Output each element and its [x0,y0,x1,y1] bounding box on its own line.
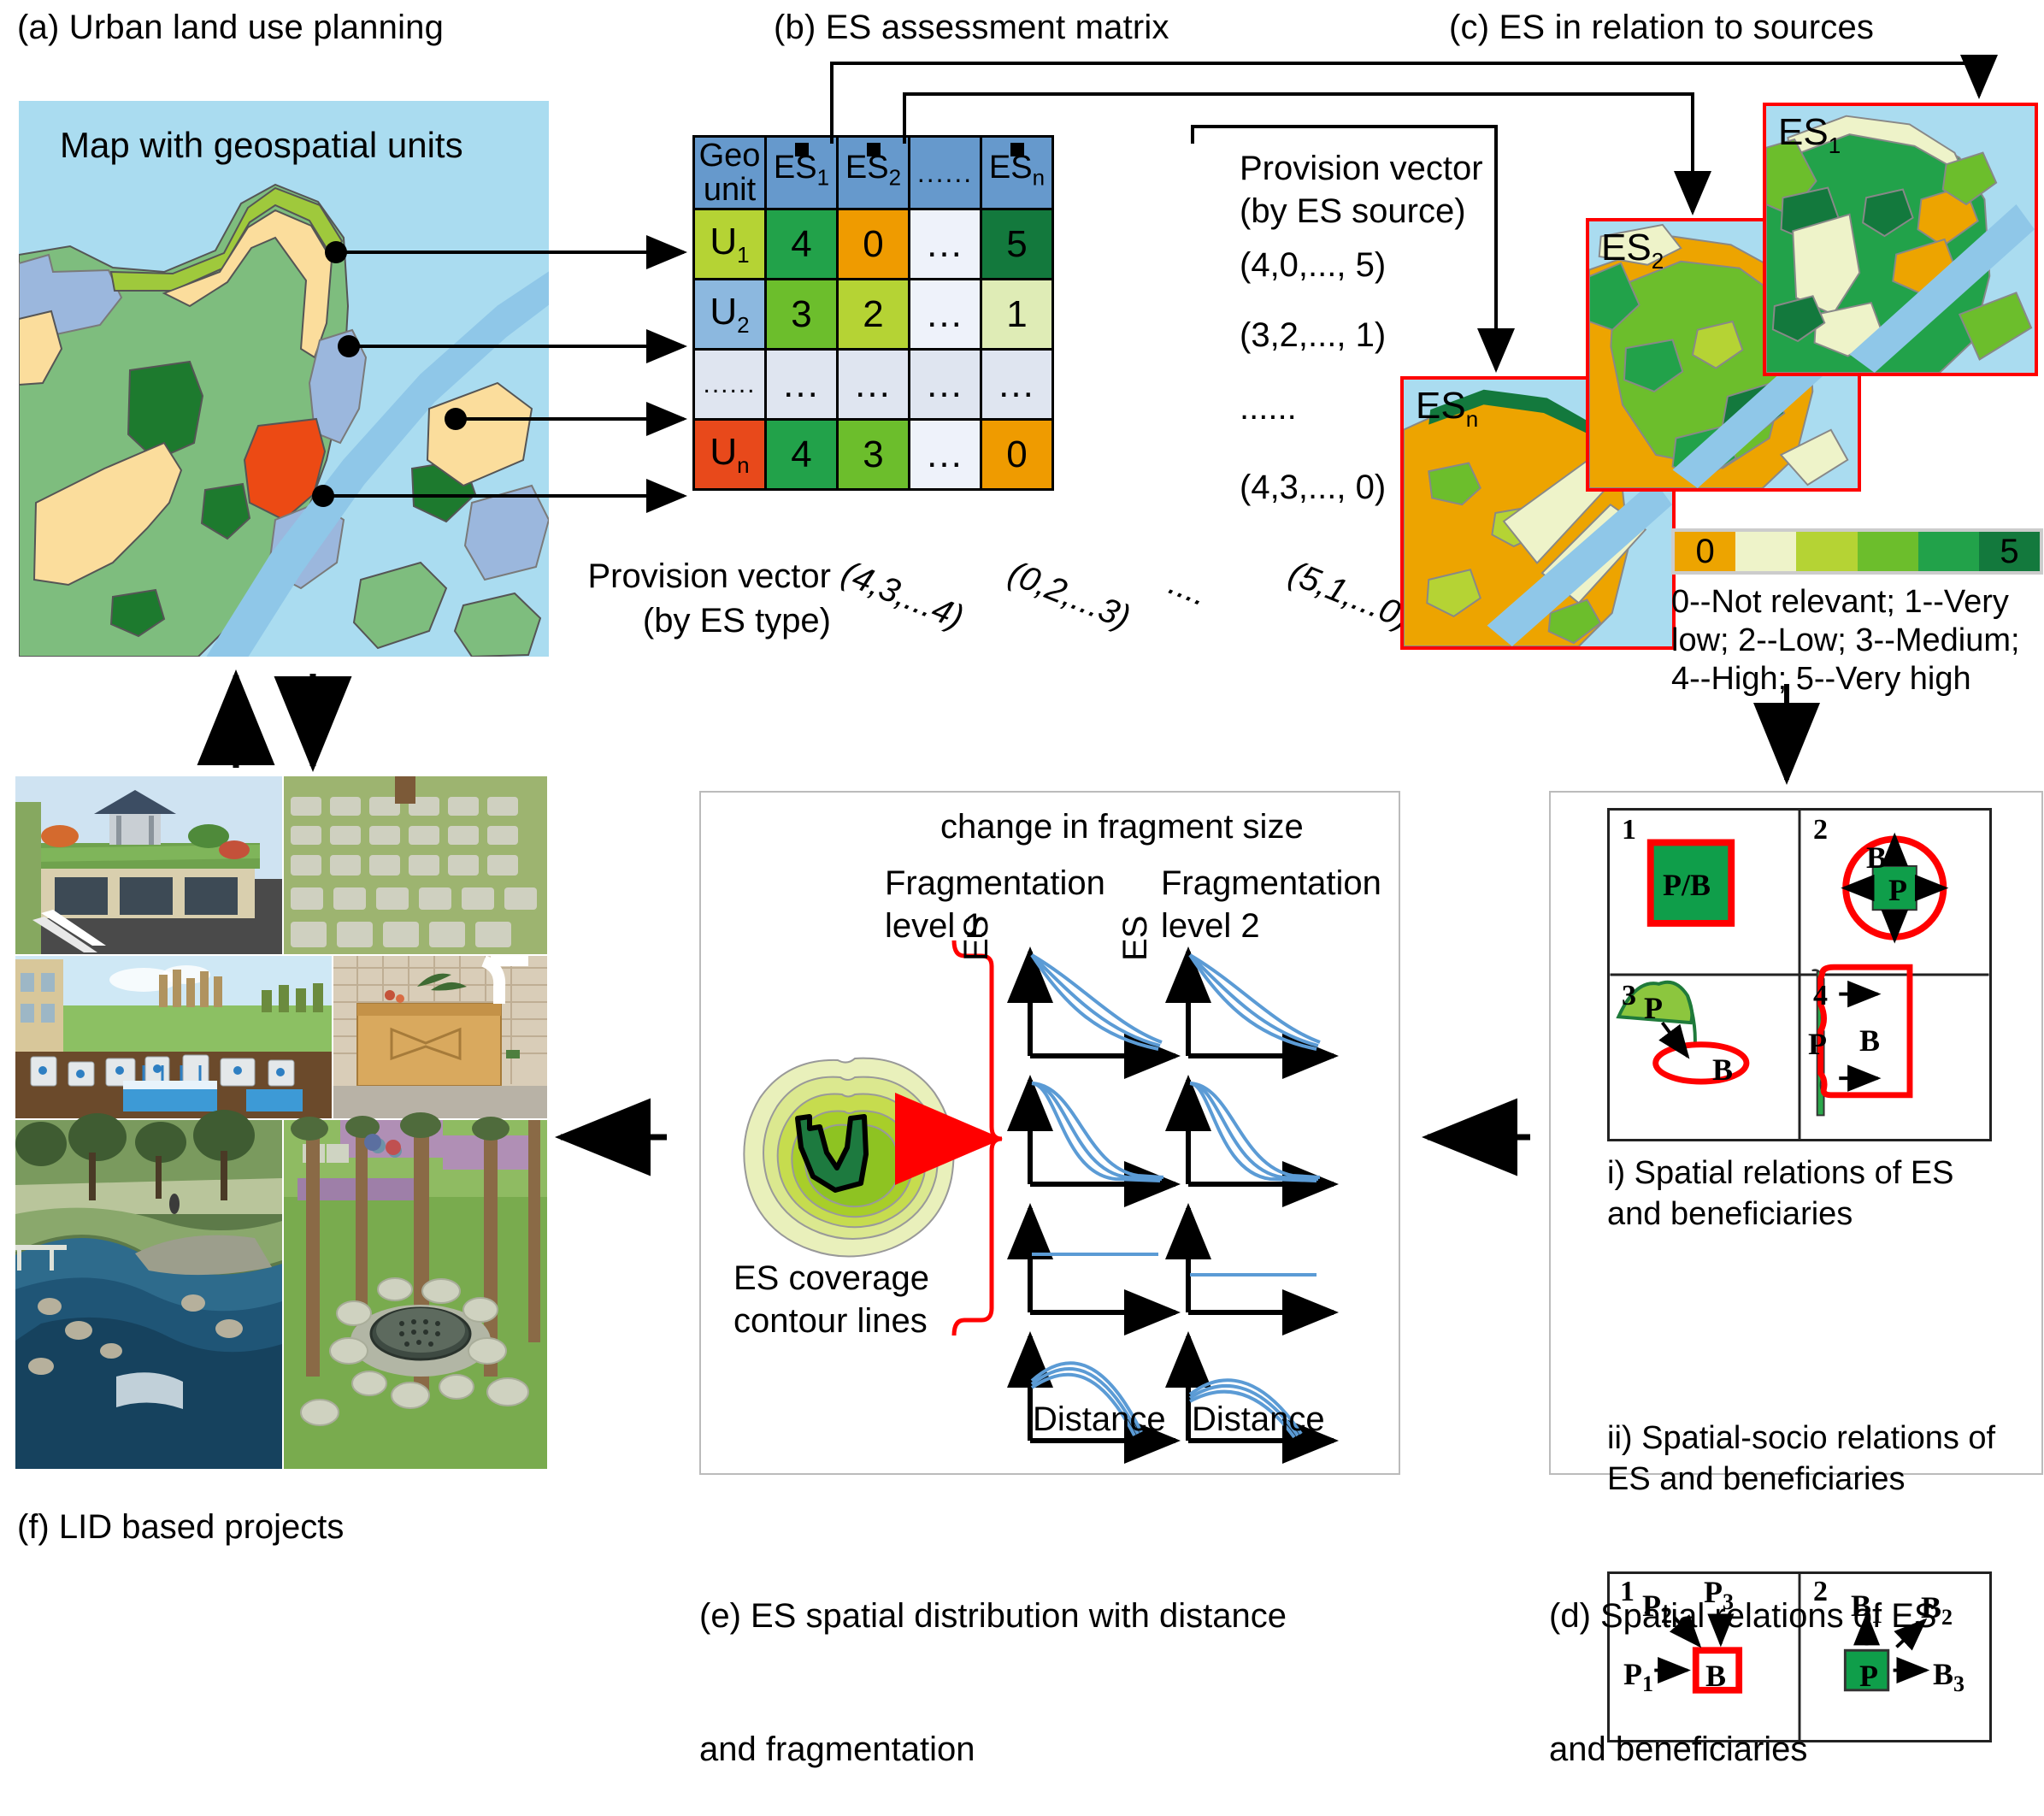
chart-y-label-col2: ES [1116,916,1155,961]
label-p-q4: P [1808,1026,1827,1062]
legend-swatch-3 [1858,532,1918,571]
chart-l1-r3 [1030,1208,1175,1312]
frag-level-2-title: Fragmentation level 2 [1161,862,1381,947]
panel-e-caption-line2: and fragmentation [699,1727,1287,1772]
chart-l2-r3 [1188,1208,1334,1312]
collage-svg [15,776,547,1469]
caption-ii-line2: ES and beneficiaries [1607,1459,1995,1500]
legend-swatch-4 [1918,532,1979,571]
legend-desc-line2: low; 2--Low; 3--Medium; [1671,622,2020,660]
panel-d-caption: (d) Spatial relations of ES and benefici… [1549,1505,1937,1816]
map-collage-arrows [214,665,368,776]
panel-f-caption: (f) LID based projects [17,1505,344,1549]
frag2-line1: Fragmentation [1161,862,1381,905]
label-p-q2: P [1888,872,1907,908]
panel-d-caption-line2: and beneficiaries [1549,1727,1937,1772]
panel-e-header: change in fragment size [940,808,1304,846]
label-p-q3: P [1644,990,1663,1026]
spatial-relations-quad[interactable]: 1 2 3 4 P/B B P P B P B [1607,808,1992,1141]
legend-swatch-1 [1735,532,1796,571]
label-pb: P/B [1663,867,1711,903]
label-b3: B3 [1933,1656,1964,1697]
chart-l2-r1 [1188,952,1334,1056]
caption-i-line2: and beneficiaries [1607,1194,1954,1235]
quad-num-3: 3 [1622,980,1636,1012]
legend-swatch-2 [1796,532,1857,571]
lid-projects-collage[interactable] [15,776,547,1469]
chart-x-label-col2: Distance [1192,1400,1325,1439]
panel-d-caption-i: i) Spatial relations of ES and beneficia… [1607,1153,1954,1235]
panel-e-caption-line1: (e) ES spatial distribution with distanc… [699,1594,1287,1638]
es-header-connectors [0,0,2044,684]
legend-swatch-0: 0 [1675,532,1735,571]
quad-num-2: 2 [1813,814,1828,846]
contour-caption-line1: ES coverage [733,1257,929,1300]
chart-l2-r2 [1188,1080,1334,1184]
legend-desc-line1: 0--Not relevant; 1--Very [1671,583,2020,622]
fragmentation-charts-col2[interactable] [1171,936,1547,1449]
quad-num-4: 4 [1813,980,1828,1012]
contour-caption-line2: contour lines [733,1300,929,1342]
chart-l1-r2 [1030,1080,1175,1184]
es-value-legend: 0 5 [1671,528,2043,575]
c-to-d-arrow [1752,684,1855,795]
quad-num-1: 1 [1622,814,1636,846]
photo-permeable-pavers [284,776,547,954]
label-b-q2: B [1866,840,1887,876]
photo-infiltration-well [284,1112,547,1469]
panel-d-caption-ii: ii) Spatial-socio relations of ES and be… [1607,1418,1995,1500]
panel-e-caption: (e) ES spatial distribution with distanc… [699,1505,1287,1816]
caption-i-line1: i) Spatial relations of ES [1607,1153,1954,1194]
spatial-relations-svg [1610,811,1989,1139]
photo-rooftop-garden [15,776,282,954]
chart-y-label-col1: ES [957,916,996,961]
e-to-f-arrow [547,1111,684,1163]
label-b-q3: B [1712,1052,1733,1088]
photo-rain-barrel [333,954,547,1118]
panel-d-caption-line1: (d) Spatial relations of ES [1549,1594,1937,1638]
caption-ii-line1: ii) Spatial-socio relations of [1607,1418,1995,1459]
label-b-q4: B [1859,1023,1880,1058]
legend-description: 0--Not relevant; 1--Very low; 2--Low; 3-… [1671,583,2020,699]
photo-lid-cross-section [15,956,332,1118]
chart-l1-r1 [1030,952,1175,1056]
legend-swatch-5: 5 [1979,532,2040,571]
photo-restored-stream [15,1110,282,1469]
chart-x-label-col1: Distance [1033,1400,1166,1439]
frag1-line1: Fragmentation [885,862,1105,905]
contour-caption: ES coverage contour lines [733,1257,929,1342]
